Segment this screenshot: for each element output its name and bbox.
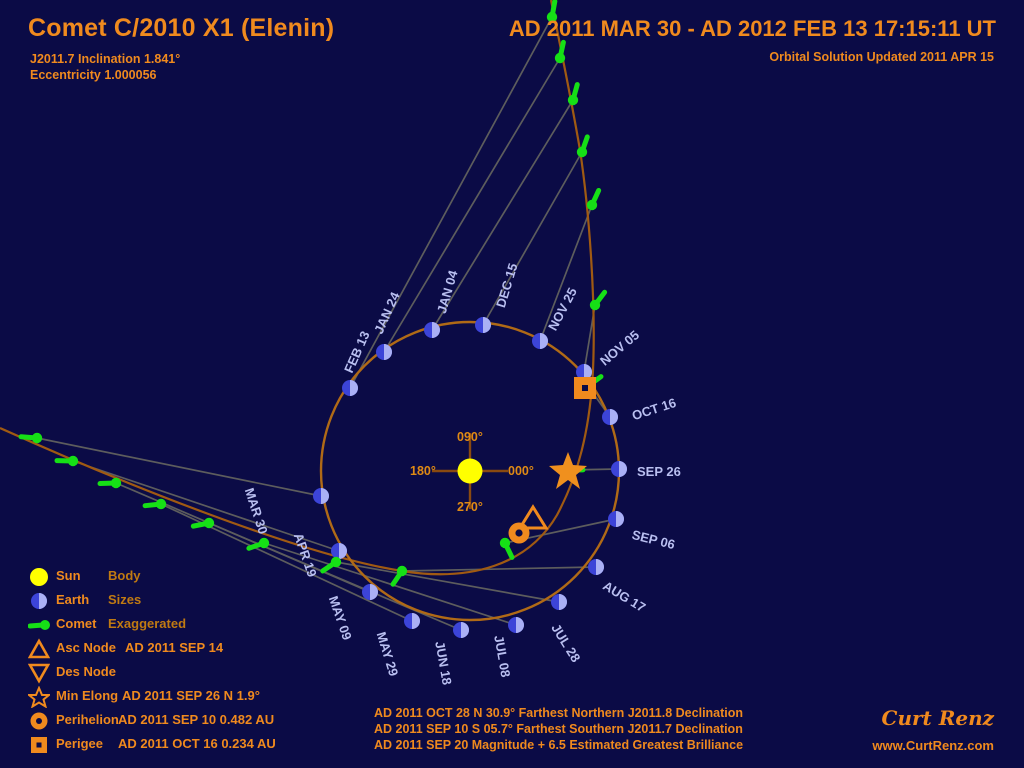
comet-icon <box>249 538 269 548</box>
earth-disc-icon <box>602 409 618 425</box>
legend-detail: AD 2011 SEP 14 <box>125 640 223 655</box>
min-elong-icon <box>549 452 587 489</box>
orbital-solution-updated-text: Orbital Solution Updated 2011 APR 15 <box>769 50 994 64</box>
earth-disc-icon <box>532 333 548 349</box>
sight-line <box>402 567 596 571</box>
sun-disc-icon <box>458 459 483 484</box>
legend-label: Perigee <box>56 736 103 751</box>
legend-label: Sun <box>56 568 81 583</box>
comet-marker-group <box>21 1 605 584</box>
annotation-note: AD 2011 SEP 20 Magnitude + 6.5 Estimated… <box>374 738 743 752</box>
angle-label-270: 270° <box>457 500 483 514</box>
sight-line <box>37 438 321 496</box>
date-label: SEP 26 <box>637 464 681 479</box>
earth-disc-icon <box>313 488 329 504</box>
comet-icon <box>587 190 599 210</box>
annotation-note: AD 2011 OCT 28 N 30.9° Farthest Northern… <box>374 706 743 720</box>
comet-icon <box>393 566 407 584</box>
angle-label-180: 180° <box>410 464 436 478</box>
legend-label: Asc Node <box>56 640 116 655</box>
legend-detail: AD 2011 SEP 10 0.482 AU <box>118 712 274 727</box>
earth-disc-icon <box>611 461 627 477</box>
date-range-text: AD 2011 MAR 30 - AD 2012 FEB 13 17:15:11… <box>509 16 996 42</box>
legend-detail: AD 2011 OCT 16 0.234 AU <box>118 736 276 751</box>
sight-line <box>161 504 412 621</box>
earth-disc-icon <box>551 594 567 610</box>
inclination-text: J2011.7 Inclination 1.841° <box>30 52 180 66</box>
earth-disc-icon <box>475 317 491 333</box>
legend-detail: Body <box>108 568 141 583</box>
earth-disc-icon <box>376 344 392 360</box>
legend-label: Earth <box>56 592 89 607</box>
legend-detail: Exaggerated <box>108 616 186 631</box>
comet-icon <box>500 538 512 558</box>
author-website: www.CurtRenz.com <box>872 738 994 753</box>
legend-label: Perihelion <box>56 712 119 727</box>
earth-disc-icon <box>508 617 524 633</box>
angle-label-000: 000° <box>508 464 534 478</box>
legend-detail: Sizes <box>108 592 141 607</box>
comet-icon <box>193 518 214 528</box>
earth-disc-icon <box>588 559 604 575</box>
legend-label: Comet <box>56 616 96 631</box>
sight-line-group <box>37 17 619 630</box>
legend-detail: AD 2011 SEP 26 N 1.9° <box>122 688 260 703</box>
legend-label: Des Node <box>56 664 116 679</box>
eccentricity-text: Eccentricity 1.000056 <box>30 68 156 82</box>
earth-disc-icon <box>424 322 440 338</box>
sight-line <box>384 58 560 352</box>
angle-label-090: 090° <box>457 430 483 444</box>
earth-disc-icon <box>453 622 469 638</box>
comet-icon <box>100 478 121 488</box>
perihelion-icon-center <box>515 529 522 536</box>
special-marker-group <box>509 377 597 544</box>
annotation-note: AD 2011 SEP 10 S 05.7° Farthest Southern… <box>374 722 743 736</box>
author-credit: Curt Renz <box>882 706 994 730</box>
page-title: Comet C/2010 X1 (Elenin) <box>28 14 334 43</box>
earth-disc-icon <box>362 584 378 600</box>
earth-disc-icon <box>404 613 420 629</box>
diagram-canvas: Comet C/2010 X1 (Elenin) J2011.7 Inclina… <box>0 0 1024 768</box>
legend-label: Min Elong <box>56 688 118 703</box>
earth-disc-icon <box>342 380 358 396</box>
earth-disc-icon <box>608 511 624 527</box>
earth-disc-icon <box>331 543 347 559</box>
perigee-icon-center <box>582 385 588 391</box>
